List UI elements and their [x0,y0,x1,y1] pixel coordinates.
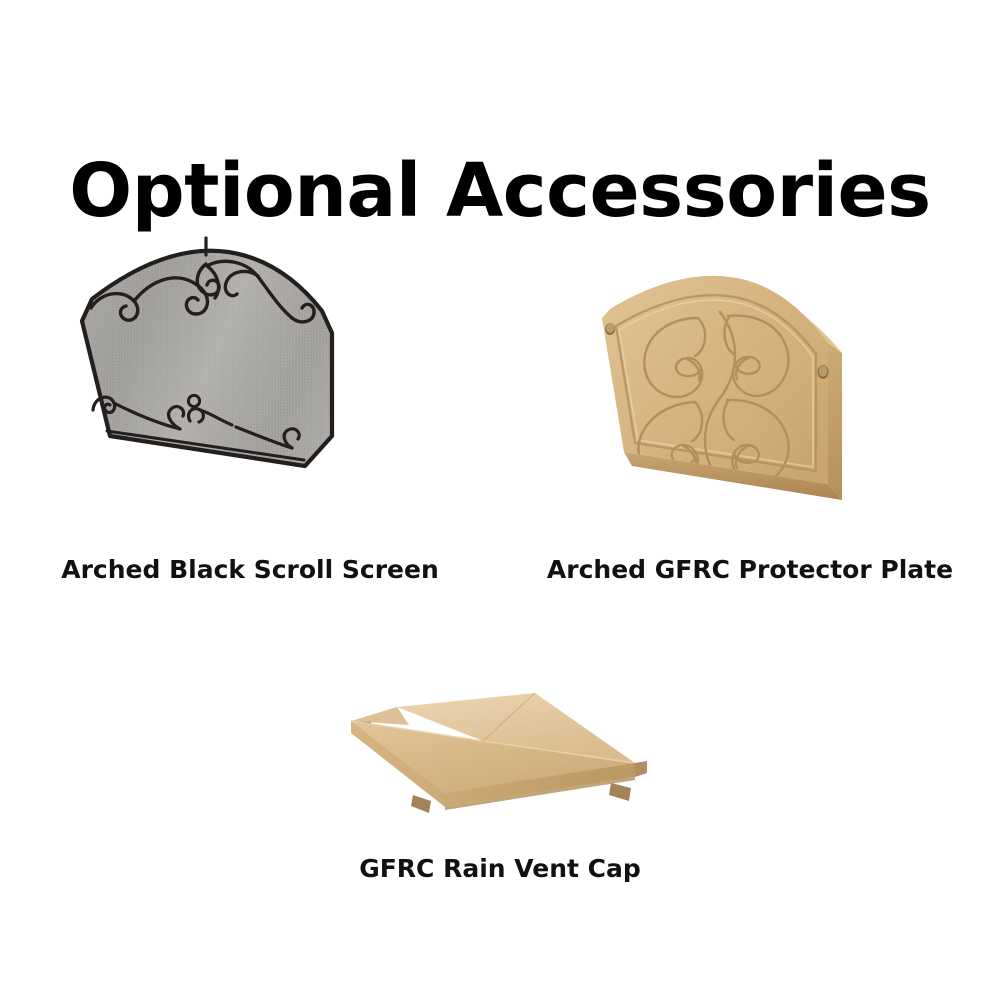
vent-cap-right-face [635,761,647,777]
product-card-gfrc-rain-vent-cap[interactable]: GFRC Rain Vent Cap [250,660,750,890]
arched-gfrc-protector-plate-image[interactable] [580,268,865,543]
plate-face [602,276,828,484]
product-card-arched-black-scroll-screen[interactable]: Arched Black Scroll Screen [0,238,500,598]
plate-right-edge [828,343,842,500]
arched-black-scroll-screen-image[interactable] [60,238,380,538]
product-label-gfrc-rain-vent-cap: GFRC Rain Vent Cap [250,856,750,881]
foot-front-left [411,795,431,813]
gfrc-rain-vent-cap-image[interactable] [335,685,665,825]
foot-right [609,783,631,801]
product-label-arched-black-scroll-screen: Arched Black Scroll Screen [0,557,500,582]
accessories-page: Optional Accessories [0,0,1000,1000]
page-title: Optional Accessories [0,154,1000,228]
product-label-arched-gfrc-protector-plate: Arched GFRC Protector Plate [500,557,1000,582]
product-card-arched-gfrc-protector-plate[interactable]: Arched GFRC Protector Plate [500,238,1000,598]
